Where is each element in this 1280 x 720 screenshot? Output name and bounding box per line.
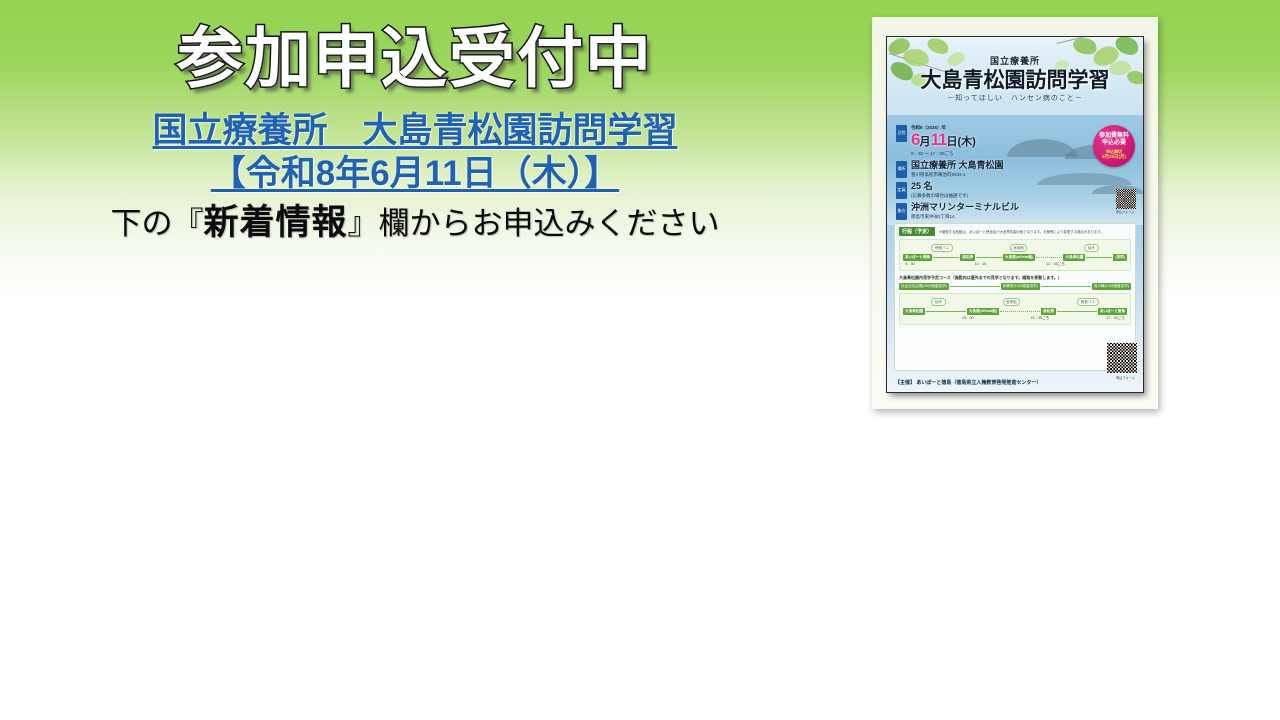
info-row-meeting-point: 集合 沖洲マリンターミナルビル 徳島市東沖洲2丁目14 (896, 203, 1058, 220)
place-name: 国立療養所 大島青松園 (911, 161, 1058, 171)
organizer-line: 【主催】 あいぽーと徳島（徳島県立人権教育啓発推進センター） (895, 379, 1041, 386)
qr-caption: 申込フォーム (1116, 375, 1135, 380)
itinerary-time: 17：00ごろ (1106, 316, 1125, 321)
stop-connector (1036, 257, 1062, 259)
stop-connector (926, 311, 966, 312)
mode-pill: 徳島バス (931, 244, 952, 252)
event-date-link[interactable]: 【令和8年6月11日（木）】 (211, 153, 619, 196)
itinerary-course: 大島青松園内見学予定コース（施設内は屋外までの見学となります。順路を移動します。… (899, 275, 1131, 290)
itinerary-time: 11：15 (975, 262, 986, 267)
stop-connector (1057, 311, 1097, 312)
stop-connector (933, 257, 959, 258)
application-form-qr-code-small[interactable] (1116, 189, 1136, 209)
course-stop: 社会交流会館(40分程度見学) (899, 283, 949, 290)
meeting-point-address: 徳島市東沖洲2丁目14 (911, 214, 1058, 220)
itinerary-stop: 大島港(official船) (967, 308, 999, 315)
status-badge: 参加費無料 申込必要 申込締切 5月25日(月) (1093, 125, 1135, 167)
mode-pill: 徒歩 (931, 298, 945, 306)
itinerary-section-label: 行程（予定） (899, 227, 935, 236)
stop-connector (976, 257, 1002, 258)
course-stops: 社会交流会館(40分程度見学) 納骨堂(10分程度見学) 風の舞(10分程度見学… (899, 283, 1131, 290)
info-body-place: 国立療養所 大島青松園 香川県高松市庵治町6034-1 (911, 161, 1058, 178)
announcement-text-block: 参加申込受付中 国立療養所 大島青松園訪問学習 【令和8年6月11日（木）】 下… (0, 0, 830, 300)
info-body-meeting-point: 沖洲マリンターミナルビル 徳島市東沖洲2丁目14 (911, 203, 1058, 220)
stop-connector (1000, 311, 1040, 313)
poster-header: 国立療養所 大島青松園訪問学習 －知ってほしい ハンセン病のこと－ (887, 37, 1143, 115)
capacity-note: (応募多数の場合は抽選です) (911, 193, 1058, 199)
outbound-times: 9：30 11：15 11：45ごろ (903, 262, 1127, 267)
info-row-capacity: 定員 25 名 (応募多数の場合は抽選です) (896, 182, 1058, 199)
itinerary-stop: あいぽーと徳島 (1098, 308, 1127, 315)
itinerary-time: 15：00 (962, 316, 974, 321)
course-title: 大島青松園内見学予定コース（施設内は屋外までの見学となります。順路を移動します。… (899, 275, 1131, 281)
itinerary-stop: 大島青松園 (903, 308, 925, 315)
badge-line-2: 申込必要 (1102, 140, 1126, 148)
itinerary-time: 9：30 (905, 262, 915, 267)
stop-connector (950, 286, 1000, 287)
application-form-qr-code[interactable] (1106, 342, 1138, 374)
badge-deadline-value: 5月25日(月) (1102, 154, 1126, 160)
stop-connector (1041, 286, 1091, 287)
outbound-stops: あいぽーと徳島 高松港 大島港(official船) 大島青松園 (見学) (903, 254, 1127, 261)
capacity-value: 25 名 (911, 182, 1058, 192)
poster-title: 大島青松園訪問学習 (887, 64, 1143, 94)
schedule-month-unit: 月 (919, 136, 930, 148)
schedule-time: 9：30 ～ 17：00ごろ (911, 151, 1058, 157)
itinerary-header: 行程（予定） ※乗船する船舶は、あいぽーと徳島及び大島青松園の船となります。天候… (899, 227, 1131, 236)
poster-subtitle: －知ってほしい ハンセン病のこと－ (887, 93, 1143, 103)
event-title-link[interactable]: 国立療養所 大島青松園訪問学習 (152, 110, 677, 153)
info-body-capacity: 25 名 (応募多数の場合は抽選です) (911, 182, 1058, 199)
itinerary-section-caption: ※乗船する船舶は、あいぽーと徳島及び大島青松園の船となります。天候等により変更す… (939, 230, 1104, 234)
itinerary-stop: あいぽーと徳島 (903, 254, 932, 261)
itinerary-outbound: 徳島バス 官用船 徒歩 あいぽーと徳島 高松港 大島港(official船) 大… (899, 239, 1131, 271)
info-body-schedule: 令和8（2026）年 6月11日(木) 9：30 ～ 17：00ごろ (911, 125, 1058, 157)
itinerary-stop: 大島青松園 (1063, 254, 1085, 261)
inbound-times: 15：00 15：30ごろ 17：00ごろ (903, 316, 1127, 321)
schedule-date: 6月11日(木) (911, 131, 1058, 150)
application-instruction: 下の『新着情報』欄からお申込みください (110, 201, 719, 245)
qr-small-caption: 申込フォーム (1116, 210, 1134, 214)
itinerary-time: 11：45ごろ (1046, 262, 1065, 267)
page-title: 参加申込受付中 (177, 22, 653, 96)
info-row-place: 場所 国立療養所 大島青松園 香川県高松市庵治町6034-1 (896, 161, 1058, 178)
instruction-prefix: 下の『 (110, 206, 203, 241)
poster-frame[interactable]: 国立療養所 大島青松園訪問学習 －知ってほしい ハンセン病のこと－ 参加費無料 … (872, 17, 1158, 409)
outbound-modes: 徳島バス 官用船 徒歩 (903, 244, 1127, 252)
itinerary-time: 15：30ごろ (1030, 316, 1049, 321)
inbound-stops: 大島青松園 大島港(official船) 高松港 あいぽーと徳島 (903, 308, 1127, 315)
info-tag-schedule: 日程 (896, 125, 907, 142)
mode-pill: 官用船 (1010, 244, 1028, 252)
mode-pill: 徒歩 (1084, 244, 1098, 252)
itinerary-inbound: 徒歩 官用船 徳島バス 大島青松園 大島港(official船) 高松港 あいぽ… (899, 293, 1131, 325)
info-tag-meeting-point: 集合 (896, 203, 907, 220)
info-tag-place: 場所 (896, 161, 907, 178)
itinerary-stop: 高松港 (960, 254, 975, 261)
place-address: 香川県高松市庵治町6034-1 (911, 172, 1058, 178)
event-poster-image[interactable]: 国立療養所 大島青松園訪問学習 －知ってほしい ハンセン病のこと－ 参加費無料 … (887, 37, 1143, 392)
info-tag-capacity: 定員 (896, 182, 907, 199)
course-stop: 風の舞(10分程度見学) (1092, 283, 1131, 290)
course-stop: 納骨堂(10分程度見学) (1001, 283, 1040, 290)
schedule-day-number: 11 (930, 130, 946, 149)
stop-connector (1086, 257, 1112, 258)
mode-pill: 官用船 (1003, 298, 1021, 306)
itinerary-panel: 行程（予定） ※乗船する船舶は、あいぽーと徳島及び大島青松園の船となります。天候… (894, 223, 1136, 371)
itinerary-stop: 大島港(official船) (1003, 254, 1035, 261)
instruction-suffix: 』欄からお申込みください (348, 206, 720, 241)
itinerary-stop: 高松港 (1041, 308, 1056, 315)
instruction-emphasis: 新着情報 (203, 203, 347, 242)
itinerary-stop: (見学) (1113, 254, 1127, 261)
schedule-day-unit: 日(木) (946, 136, 975, 148)
info-row-schedule: 日程 令和8（2026）年 6月11日(木) 9：30 ～ 17：00ごろ (896, 125, 1058, 157)
meeting-point-name: 沖洲マリンターミナルビル (911, 203, 1058, 213)
mode-pill: 徳島バス (1077, 298, 1098, 306)
inbound-modes: 徒歩 官用船 徳島バス (903, 298, 1127, 306)
